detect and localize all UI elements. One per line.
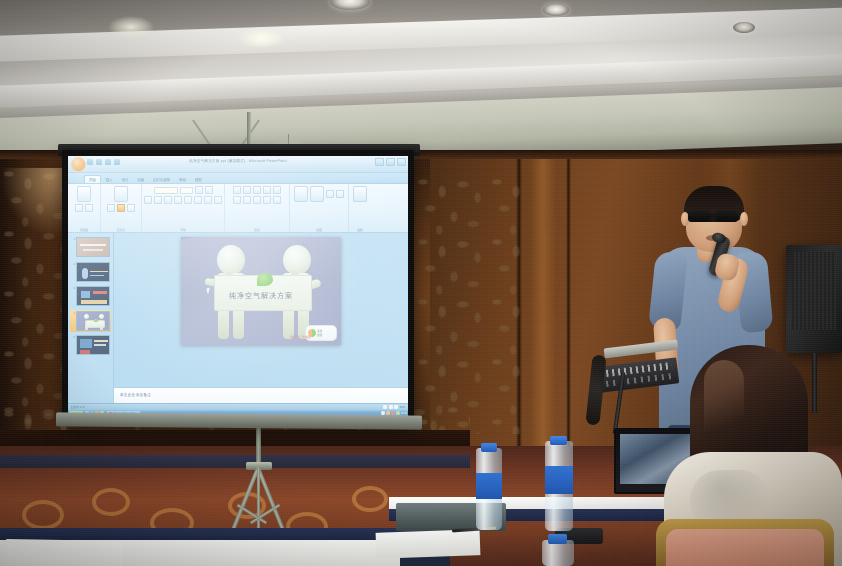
slide-thumbnail[interactable]: [76, 286, 110, 306]
cut-icon[interactable]: [75, 204, 83, 212]
wood-seam: [566, 150, 571, 470]
window-title: 纯净空气解决方案.ppt [兼容模式] - Microsoft PowerPoi…: [68, 159, 408, 164]
reset-icon[interactable]: [117, 204, 125, 212]
bottle-label: [476, 473, 502, 499]
group-label-font: 字体: [142, 228, 224, 232]
font-color-icon[interactable]: [214, 196, 222, 204]
speaker-stand-pole: [812, 353, 817, 413]
bottle-cap[interactable]: [550, 436, 567, 445]
paste-button[interactable]: [77, 186, 91, 202]
logo-line-2: 健康: [317, 333, 322, 337]
volume-icon[interactable]: [386, 411, 390, 415]
window-controls[interactable]: [375, 158, 406, 166]
delete-slide-icon[interactable]: [127, 204, 135, 212]
align-center-icon[interactable]: [243, 196, 251, 204]
tab-animations[interactable]: 动画: [133, 176, 148, 183]
speech-bubble-icon: [257, 273, 273, 286]
char-spacing-icon[interactable]: [194, 196, 202, 204]
taskbar-clock: 19:28: [401, 412, 407, 415]
view-controls[interactable]: 66%: [383, 405, 405, 409]
slide-thumbnail-current[interactable]: [76, 311, 110, 331]
grow-font-icon[interactable]: [195, 186, 203, 194]
copy-icon[interactable]: [85, 204, 93, 212]
logo-line-1: 清新: [317, 329, 322, 333]
arrange-button[interactable]: [310, 186, 324, 202]
sorter-view-icon[interactable]: [389, 405, 393, 409]
align-right-icon[interactable]: [253, 196, 261, 204]
ribbon-group-clipboard[interactable]: 剪贴板: [68, 184, 101, 232]
group-label-slides: 幻灯片: [101, 228, 141, 232]
glasses-icon: [688, 211, 710, 222]
strikethrough-icon[interactable]: [184, 196, 192, 204]
carpet-motif: [22, 500, 64, 530]
slide-thumbnail[interactable]: [76, 335, 110, 355]
glasses-icon: [716, 211, 738, 222]
zoom-level[interactable]: 66%: [400, 406, 405, 409]
projection-screen: 纯净空气解决方案.ppt [兼容模式] - Microsoft PowerPoi…: [62, 150, 414, 422]
bold-icon[interactable]: [144, 196, 152, 204]
banner-text: 纯净空气解决方案: [181, 291, 341, 301]
ime-icon[interactable]: [396, 411, 400, 415]
wall-light-glow: [0, 168, 70, 238]
list-item[interactable]: 2: [70, 261, 111, 283]
slide-number: 5: [71, 335, 75, 339]
slide-thumbnail-pane[interactable]: 1 2: [68, 233, 114, 416]
normal-view-icon[interactable]: [383, 405, 387, 409]
ribbon[interactable]: 剪贴板 幻灯片: [68, 184, 408, 233]
increase-indent-icon[interactable]: [263, 186, 271, 194]
status-bar: 幻灯片 4 / 5 66%: [68, 403, 408, 410]
notes-pane[interactable]: 单击此处添加备注: [114, 387, 408, 404]
presenter-ear: [740, 212, 748, 226]
slide-thumbnail[interactable]: [76, 262, 110, 282]
group-label-drawing: 绘图: [290, 228, 348, 232]
projected-image: 纯净空气解决方案.ppt [兼容模式] - Microsoft PowerPoi…: [68, 156, 408, 416]
line-spacing-icon[interactable]: [273, 186, 281, 194]
conference-room-photo: 纯净空气解决方案.ppt [兼容模式] - Microsoft PowerPoi…: [0, 0, 842, 566]
quick-styles-icon[interactable]: [326, 190, 334, 198]
title-bar: 纯净空气解决方案.ppt [兼容模式] - Microsoft PowerPoi…: [68, 156, 408, 173]
banquet-chair-seatback: [666, 529, 824, 566]
slide-footer-mark: 净化空气 守护健康: [290, 335, 311, 339]
list-item[interactable]: 1: [70, 236, 111, 258]
antivirus-icon[interactable]: [391, 411, 395, 415]
paper-handout[interactable]: [376, 529, 481, 559]
downlight-glow: [108, 16, 154, 38]
decrease-indent-icon[interactable]: [253, 186, 261, 194]
bottle-cap[interactable]: [481, 443, 497, 452]
carpet-motif: [352, 486, 388, 512]
banner-clip: [225, 272, 233, 276]
tab-slideshow[interactable]: 幻灯片放映: [149, 176, 174, 183]
system-tray[interactable]: 19:28: [381, 411, 407, 415]
close-icon[interactable]: [397, 158, 406, 166]
paper-handout[interactable]: [6, 539, 122, 566]
slide-number: 3: [71, 286, 75, 290]
underline-icon[interactable]: [164, 196, 172, 204]
tab-home[interactable]: 开始: [84, 175, 101, 183]
carpet-border-navy: [0, 455, 470, 468]
slide-number: 2: [71, 262, 75, 266]
downlight-icon: [733, 22, 755, 33]
notes-placeholder: 单击此处添加备注: [120, 393, 151, 398]
downlight-glow: [238, 28, 284, 48]
glasses-bridge: [710, 214, 716, 217]
speaker-grille: [792, 252, 836, 330]
tab-view[interactable]: 视图: [191, 176, 206, 183]
bottle-cap[interactable]: [548, 534, 567, 544]
banner-clip: [291, 272, 299, 276]
slide-number: 1: [71, 237, 75, 241]
ribbon-group-font[interactable]: 字体: [142, 184, 225, 232]
group-label-paragraph: 段落: [225, 228, 289, 232]
shape-fill-icon[interactable]: [336, 190, 344, 198]
shapes-gallery[interactable]: [294, 186, 308, 202]
bottle-label: [545, 466, 573, 494]
slideshow-view-icon[interactable]: [394, 405, 398, 409]
list-item[interactable]: 3: [70, 285, 111, 307]
justify-icon[interactable]: [263, 196, 271, 204]
powerpoint-window: 纯净空气解决方案.ppt [兼容模式] - Microsoft PowerPoi…: [68, 156, 408, 416]
current-slide[interactable]: 纯净空气解决方案 清新 健康: [181, 237, 341, 345]
slide-thumbnail[interactable]: [76, 237, 110, 257]
minimize-icon[interactable]: [375, 158, 384, 166]
change-case-icon[interactable]: [204, 196, 212, 204]
network-icon[interactable]: [381, 411, 385, 415]
group-label-editing: 编辑: [349, 228, 371, 232]
ribbon-group-editing[interactable]: 编辑: [349, 184, 371, 232]
tab-insert[interactable]: 插入: [102, 176, 117, 183]
carpet-motif: [92, 488, 130, 516]
ribbon-tabs[interactable]: 开始 插入 设计 动画 幻灯片放映 审阅 视图: [68, 173, 408, 184]
ribbon-group-slides[interactable]: 幻灯片: [101, 184, 142, 232]
find-button[interactable]: [353, 186, 367, 202]
slide-number: 4: [71, 311, 75, 315]
attendee-hair-sheen: [704, 360, 744, 452]
layout-icon[interactable]: [107, 204, 115, 212]
ribbon-group-paragraph[interactable]: 段落: [225, 184, 290, 232]
downlight-icon: [543, 4, 569, 16]
front-table-band: [0, 528, 400, 540]
tab-review[interactable]: 审阅: [175, 176, 190, 183]
slide-counter: 幻灯片 4 / 5: [71, 405, 85, 409]
new-slide-button[interactable]: [114, 186, 128, 202]
tab-design[interactable]: 设计: [118, 176, 133, 183]
numbering-icon[interactable]: [243, 186, 251, 194]
shrink-font-icon[interactable]: [205, 186, 213, 194]
ribbon-group-drawing[interactable]: 绘图: [290, 184, 349, 232]
list-item-selected[interactable]: 4: [70, 310, 111, 332]
font-name-box[interactable]: [154, 187, 178, 194]
italic-icon[interactable]: [154, 196, 162, 204]
group-label-clipboard: 剪贴板: [68, 228, 100, 232]
columns-icon[interactable]: [273, 196, 281, 204]
restore-icon[interactable]: [386, 158, 395, 166]
font-size-box[interactable]: [180, 187, 193, 194]
wallpaper-panel-center: [414, 176, 520, 434]
list-item[interactable]: 5: [70, 334, 111, 356]
align-left-icon[interactable]: [233, 196, 241, 204]
bullets-icon[interactable]: [233, 186, 241, 194]
shadow-icon[interactable]: [174, 196, 182, 204]
wood-highlight: [530, 150, 556, 470]
